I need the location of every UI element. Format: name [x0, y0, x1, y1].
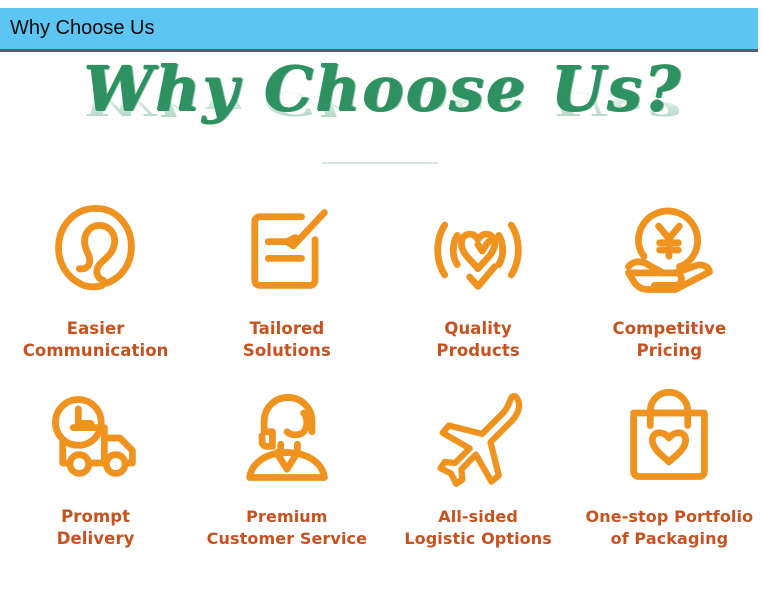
feature-label: All-sided Logistic Options [402, 506, 554, 550]
feature-label: Premium Customer Service [205, 506, 369, 550]
feature-label: Tailored Solutions [241, 318, 333, 362]
hero-section: Why Choose Us? Why Choose Us? [0, 58, 765, 168]
shopping-bag-heart-icon [617, 384, 721, 492]
feature-item-competitive-pricing[interactable]: Competitive Pricing [574, 196, 765, 362]
document-pencil-icon [235, 196, 339, 304]
hero-divider [322, 162, 438, 164]
feature-label: Easier Communication [21, 318, 171, 362]
feature-label: Competitive Pricing [610, 318, 728, 362]
headset-agent-icon [235, 384, 339, 492]
feature-grid: Easier Communication Tailored Solutions [0, 196, 765, 550]
feature-item-tailored-solutions[interactable]: Tailored Solutions [191, 196, 382, 362]
feature-item-easier-communication[interactable]: Easier Communication [0, 196, 191, 362]
hand-holding-yen-coin-icon [617, 196, 721, 304]
feature-item-one-stop-portfolio[interactable]: One-stop Portfolio of Packaging [574, 384, 765, 550]
feature-item-quality-products[interactable]: Quality Products [383, 196, 574, 362]
feature-item-all-sided-logistic-options[interactable]: All-sided Logistic Options [383, 384, 574, 550]
hero-title: Why Choose Us? [83, 58, 682, 120]
heart-check-signal-icon [426, 196, 530, 304]
hero-title-wrapper: Why Choose Us? Why Choose Us? [83, 58, 682, 120]
feature-item-prompt-delivery[interactable]: Prompt Delivery [0, 384, 191, 550]
delivery-truck-clock-icon [44, 384, 148, 492]
feature-label: Prompt Delivery [55, 506, 137, 550]
page-title: Why Choose Us [10, 16, 155, 40]
page-root: Why Choose Us Why Choose Us? Why Choose … [0, 0, 765, 599]
ear-in-circle-icon [44, 196, 148, 304]
feature-label: One-stop Portfolio of Packaging [584, 506, 756, 550]
airplane-icon [426, 384, 530, 492]
feature-item-premium-customer-service[interactable]: Premium Customer Service [191, 384, 382, 550]
feature-label: Quality Products [434, 318, 521, 362]
app-header-bar: Why Choose Us [0, 8, 758, 52]
